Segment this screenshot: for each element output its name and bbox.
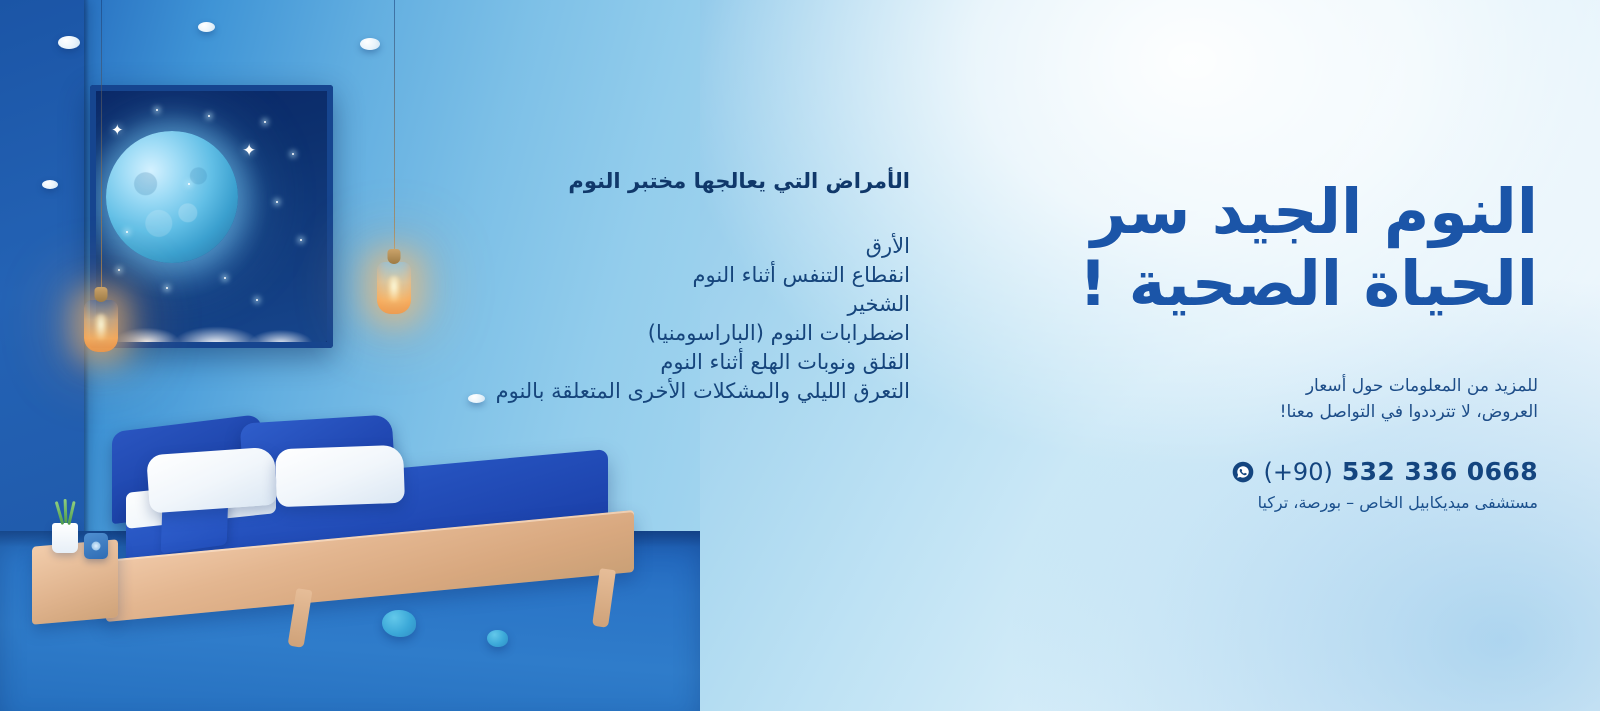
pendant-lamp-right xyxy=(377,262,411,314)
cloud-prop xyxy=(198,22,215,32)
page-title: النوم الجيد سر الحياة الصحية ! xyxy=(1008,176,1538,320)
star-icon xyxy=(156,109,158,111)
promo-line-2: العروض، لا تترددوا في التواصل معنا! xyxy=(1008,400,1538,426)
pendant-lamp-left xyxy=(84,300,118,352)
star-icon xyxy=(118,269,120,271)
condition-item: القلق ونوبات الهلع أثناء النوم xyxy=(490,348,910,377)
cloud-prop xyxy=(58,36,80,49)
star-icon xyxy=(264,121,266,123)
star-icon xyxy=(166,287,168,289)
lamp-cord xyxy=(394,0,395,262)
star-icon xyxy=(208,115,210,117)
promo-text: للمزيد من المعلومات حول أسعار العروض، لا… xyxy=(1008,374,1538,426)
star-icon xyxy=(276,201,278,203)
headline-line-2: الحياة الصحية ! xyxy=(1008,248,1538,320)
condition-item: التعرق الليلي والمشكلات الأخرى المتعلقة … xyxy=(490,377,910,406)
lamp-cord xyxy=(101,0,102,300)
moon-artwork-frame: ✦ ✦ xyxy=(90,85,333,348)
star-icon xyxy=(126,231,128,233)
cloud-prop-floor xyxy=(382,610,416,637)
artwork-clouds xyxy=(96,302,327,342)
contact-block: (+90) 532 336 0668 مستشفى ميديكابيل الخا… xyxy=(1008,457,1538,512)
condition-item: الأرق xyxy=(490,232,910,261)
condition-item: اضطرابات النوم (الباراسومنيا) xyxy=(490,319,910,348)
headline-panel: النوم الجيد سر الحياة الصحية ! للمزيد من… xyxy=(1008,176,1538,512)
white-pillow xyxy=(275,445,405,507)
conditions-block: الأمراض التي يعالجها مختبر النوم الأرق ا… xyxy=(490,168,910,406)
white-pillow xyxy=(146,447,278,514)
cloud-prop xyxy=(360,38,380,50)
headline-line-1: النوم الجيد سر xyxy=(1008,176,1538,248)
hospital-name: مستشفى ميديكابيل الخاص – بورصة، تركيا xyxy=(1008,493,1538,512)
plant-pot xyxy=(52,523,78,553)
conditions-list: الأرق انقطاع التنفس أثناء النوم الشخير ا… xyxy=(490,232,910,406)
star-icon xyxy=(188,183,190,185)
phone-row[interactable]: (+90) 532 336 0668 xyxy=(1008,457,1538,486)
condition-item: الشخير xyxy=(490,290,910,319)
sleep-lab-banner: ✦ ✦ xyxy=(0,0,1600,711)
star-icon xyxy=(224,277,226,279)
whatsapp-icon[interactable] xyxy=(1232,461,1254,483)
cloud-prop-floor xyxy=(487,630,508,647)
condition-item: انقطاع التنفس أثناء النوم xyxy=(490,261,910,290)
star-icon xyxy=(292,153,294,155)
star-icon: ✦ xyxy=(242,143,256,160)
phone-number[interactable]: 532 336 0668 xyxy=(1342,457,1538,486)
star-icon: ✦ xyxy=(111,123,124,138)
star-icon xyxy=(300,239,302,241)
alarm-clock xyxy=(84,533,108,559)
phone-country-code: (+90) xyxy=(1263,458,1332,486)
conditions-title: الأمراض التي يعالجها مختبر النوم xyxy=(490,168,910,194)
bed-leg xyxy=(592,568,616,628)
promo-line-1: للمزيد من المعلومات حول أسعار xyxy=(1008,374,1538,400)
night-sky-art: ✦ ✦ xyxy=(96,91,327,342)
star-icon xyxy=(256,299,258,301)
cloud-prop xyxy=(42,180,58,189)
moon-icon xyxy=(106,131,238,263)
